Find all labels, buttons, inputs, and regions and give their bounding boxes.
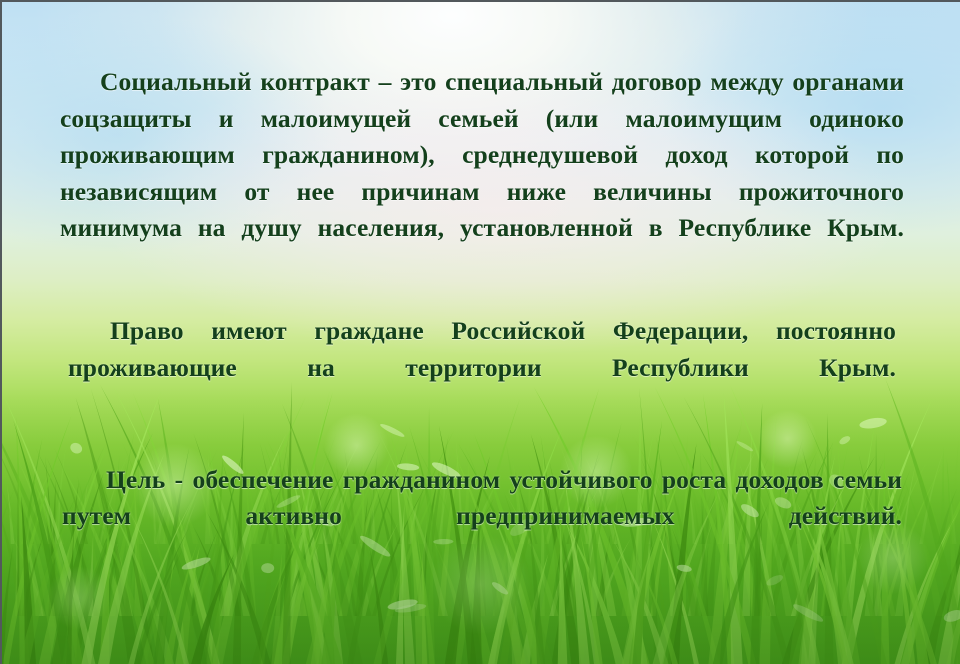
- slide-canvas: Социальный контракт – это специальный до…: [0, 0, 960, 664]
- slide-text-content: Социальный контракт – это специальный до…: [2, 2, 960, 571]
- paragraph-eligibility: Право имеют граждане Российской Федераци…: [60, 313, 904, 423]
- paragraph-definition: Социальный контракт – это специальный до…: [60, 64, 904, 283]
- paragraph-purpose: Цель - обеспечение гражданином устойчиво…: [60, 462, 904, 572]
